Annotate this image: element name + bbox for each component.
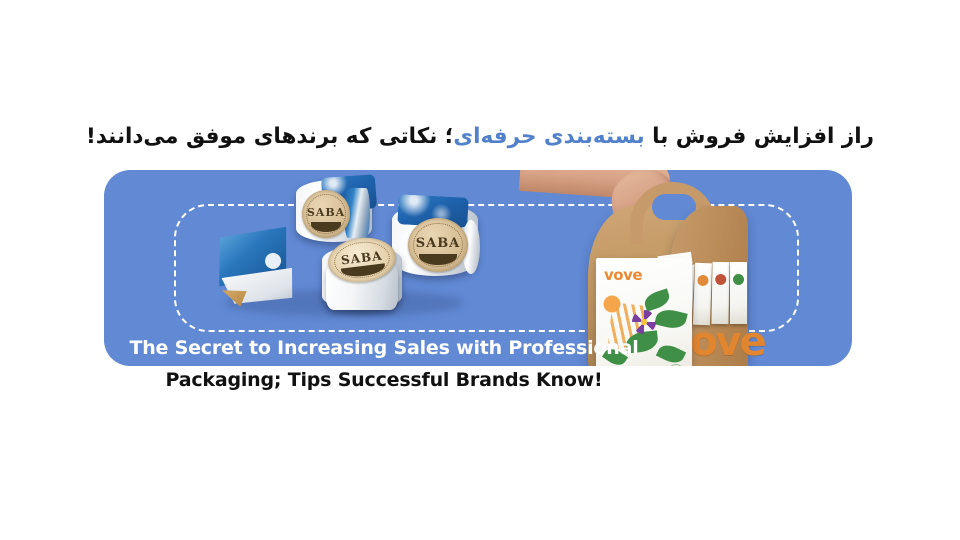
headline-segment-1: راز افزایش فروش با <box>645 124 874 149</box>
caption-line-1: The Secret to Increasing Sales with Prof… <box>104 336 664 360</box>
saba-label-text-1: SABA <box>302 206 350 219</box>
headline-accent-phrase: بسته‌بندی حرفه‌ای <box>453 124 644 149</box>
saba-seal-badge <box>264 251 283 270</box>
leaf-1 <box>642 288 672 311</box>
saba-label-ribbon-2 <box>419 254 457 265</box>
saba-kraft-label-1: SABA <box>302 190 350 238</box>
leaf-2 <box>654 307 687 332</box>
sachet-4 <box>730 262 747 324</box>
flower-illustration <box>632 310 656 334</box>
saba-product-cluster: SABA SABA SABA <box>214 178 484 328</box>
page-title: راز افزایش فروش با بسته‌بندی حرفه‌ای؛ نک… <box>0 124 960 150</box>
saba-tin-front: SABA <box>322 246 402 310</box>
eco-seal-icon <box>668 364 684 366</box>
saba-tin-back: SABA <box>296 180 372 242</box>
sachet-3 <box>711 262 729 324</box>
saba-tin-right: SABA <box>392 204 478 276</box>
vove-wordmark-small: vove <box>604 266 642 284</box>
headline-segment-2: ؛ نکاتی که برندهای موفق می‌دانند! <box>86 124 453 149</box>
sachet-2 <box>693 263 712 326</box>
poster-canvas: راز افزایش فروش با بسته‌بندی حرفه‌ای؛ نک… <box>0 0 960 540</box>
caption-line-2: Packaging; Tips Successful Brands Know! <box>104 368 664 392</box>
saba-label-ribbon-1 <box>311 222 342 232</box>
saba-label-text-2: SABA <box>408 236 468 251</box>
saba-kraft-label-2: SABA <box>408 218 468 272</box>
